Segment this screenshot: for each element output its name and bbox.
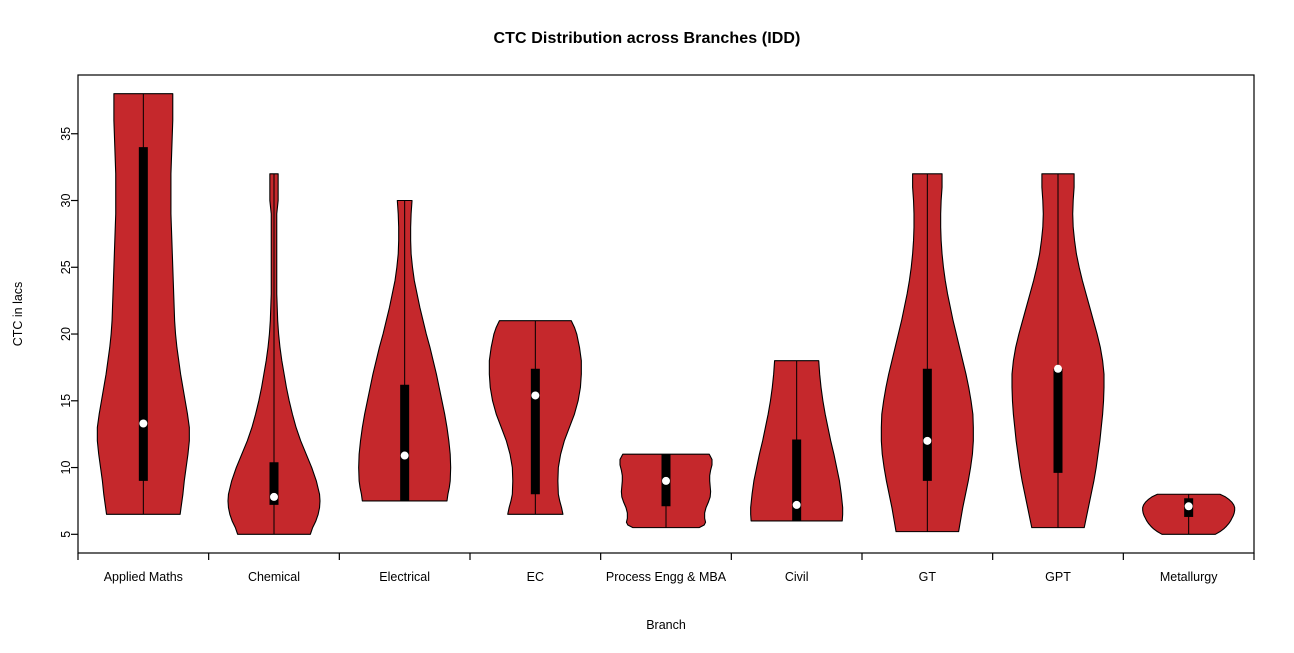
violin-chemical — [228, 174, 320, 535]
median-point — [531, 391, 539, 399]
x-axis: Applied MathsChemicalElectricalECProcess… — [78, 553, 1254, 584]
x-category-label-ec: EC — [527, 570, 544, 584]
x-category-label-chemical: Chemical — [248, 570, 300, 584]
x-category-label-electrical: Electrical — [379, 570, 430, 584]
median-point — [793, 501, 801, 509]
x-axis-title: Branch — [646, 618, 686, 632]
median-point — [401, 452, 409, 460]
x-category-label-gpt: GPT — [1045, 570, 1071, 584]
violin-process-engg-mba — [620, 454, 712, 527]
y-tick-label: 25 — [59, 260, 73, 274]
violin-electrical — [359, 201, 451, 501]
violin-ec — [489, 321, 581, 515]
y-axis: 5101520253035 — [59, 127, 78, 538]
x-category-label-gt: GT — [919, 570, 937, 584]
y-tick-label: 10 — [59, 461, 73, 475]
violin-civil — [751, 361, 843, 521]
median-point — [270, 493, 278, 501]
median-point — [139, 419, 147, 427]
violin-metallurgy — [1143, 494, 1235, 534]
x-category-label-metallurgy: Metallurgy — [1160, 570, 1218, 584]
y-tick-label: 5 — [59, 531, 73, 538]
y-tick-label: 30 — [59, 194, 73, 208]
violin-plot-canvas: 5101520253035 Applied MathsChemicalElect… — [0, 0, 1294, 653]
median-point — [1185, 502, 1193, 510]
median-point — [923, 437, 931, 445]
median-point — [662, 477, 670, 485]
median-point — [1054, 365, 1062, 373]
x-category-label-civil: Civil — [785, 570, 809, 584]
y-tick-label: 35 — [59, 127, 73, 141]
violin-gpt — [1012, 174, 1104, 528]
y-tick-label: 20 — [59, 327, 73, 341]
violin-gt — [881, 174, 973, 532]
y-tick-label: 15 — [59, 394, 73, 408]
x-category-label-applied-maths: Applied Maths — [104, 570, 183, 584]
y-axis-title: CTC in lacs — [11, 282, 25, 347]
violin-applied-maths — [97, 94, 189, 515]
violin-series-group — [97, 94, 1234, 535]
violin-plot-page: CTC Distribution across Branches (IDD) 5… — [0, 0, 1294, 653]
x-category-label-process-engg-mba: Process Engg & MBA — [606, 570, 727, 584]
